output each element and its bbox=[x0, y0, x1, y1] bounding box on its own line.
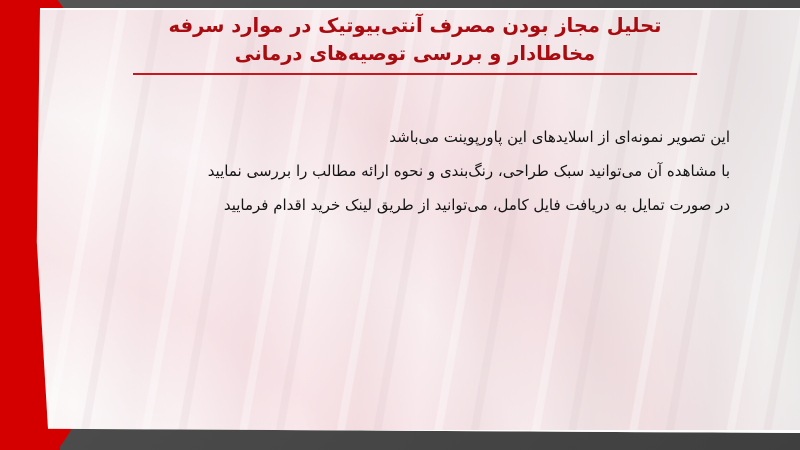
slide-body-line-3: در صورت تمایل به دریافت فایل کامل، می‌تو… bbox=[110, 188, 730, 222]
slide-title-line-1: تحلیل مجاز بودن مصرف آنتی‌بیوتیک در موار… bbox=[120, 12, 710, 40]
slide-title: تحلیل مجاز بودن مصرف آنتی‌بیوتیک در موار… bbox=[120, 12, 710, 68]
slide-body-line-2: با مشاهده آن می‌توانید سبک طراحی، رنگ‌بن… bbox=[110, 154, 730, 188]
slide-canvas: تحلیل مجاز بودن مصرف آنتی‌بیوتیک در موار… bbox=[0, 0, 800, 450]
slide-body-line-1: این تصویر نمونه‌ای از اسلایدهای این پاور… bbox=[110, 120, 730, 154]
slide-title-line-2: مخاطادار و بررسی توصیه‌های درمانی bbox=[120, 40, 710, 68]
slide-body-text: این تصویر نمونه‌ای از اسلایدهای این پاور… bbox=[110, 120, 730, 222]
title-underline-rule bbox=[133, 73, 697, 75]
panel-top-rim bbox=[0, 8, 800, 10]
